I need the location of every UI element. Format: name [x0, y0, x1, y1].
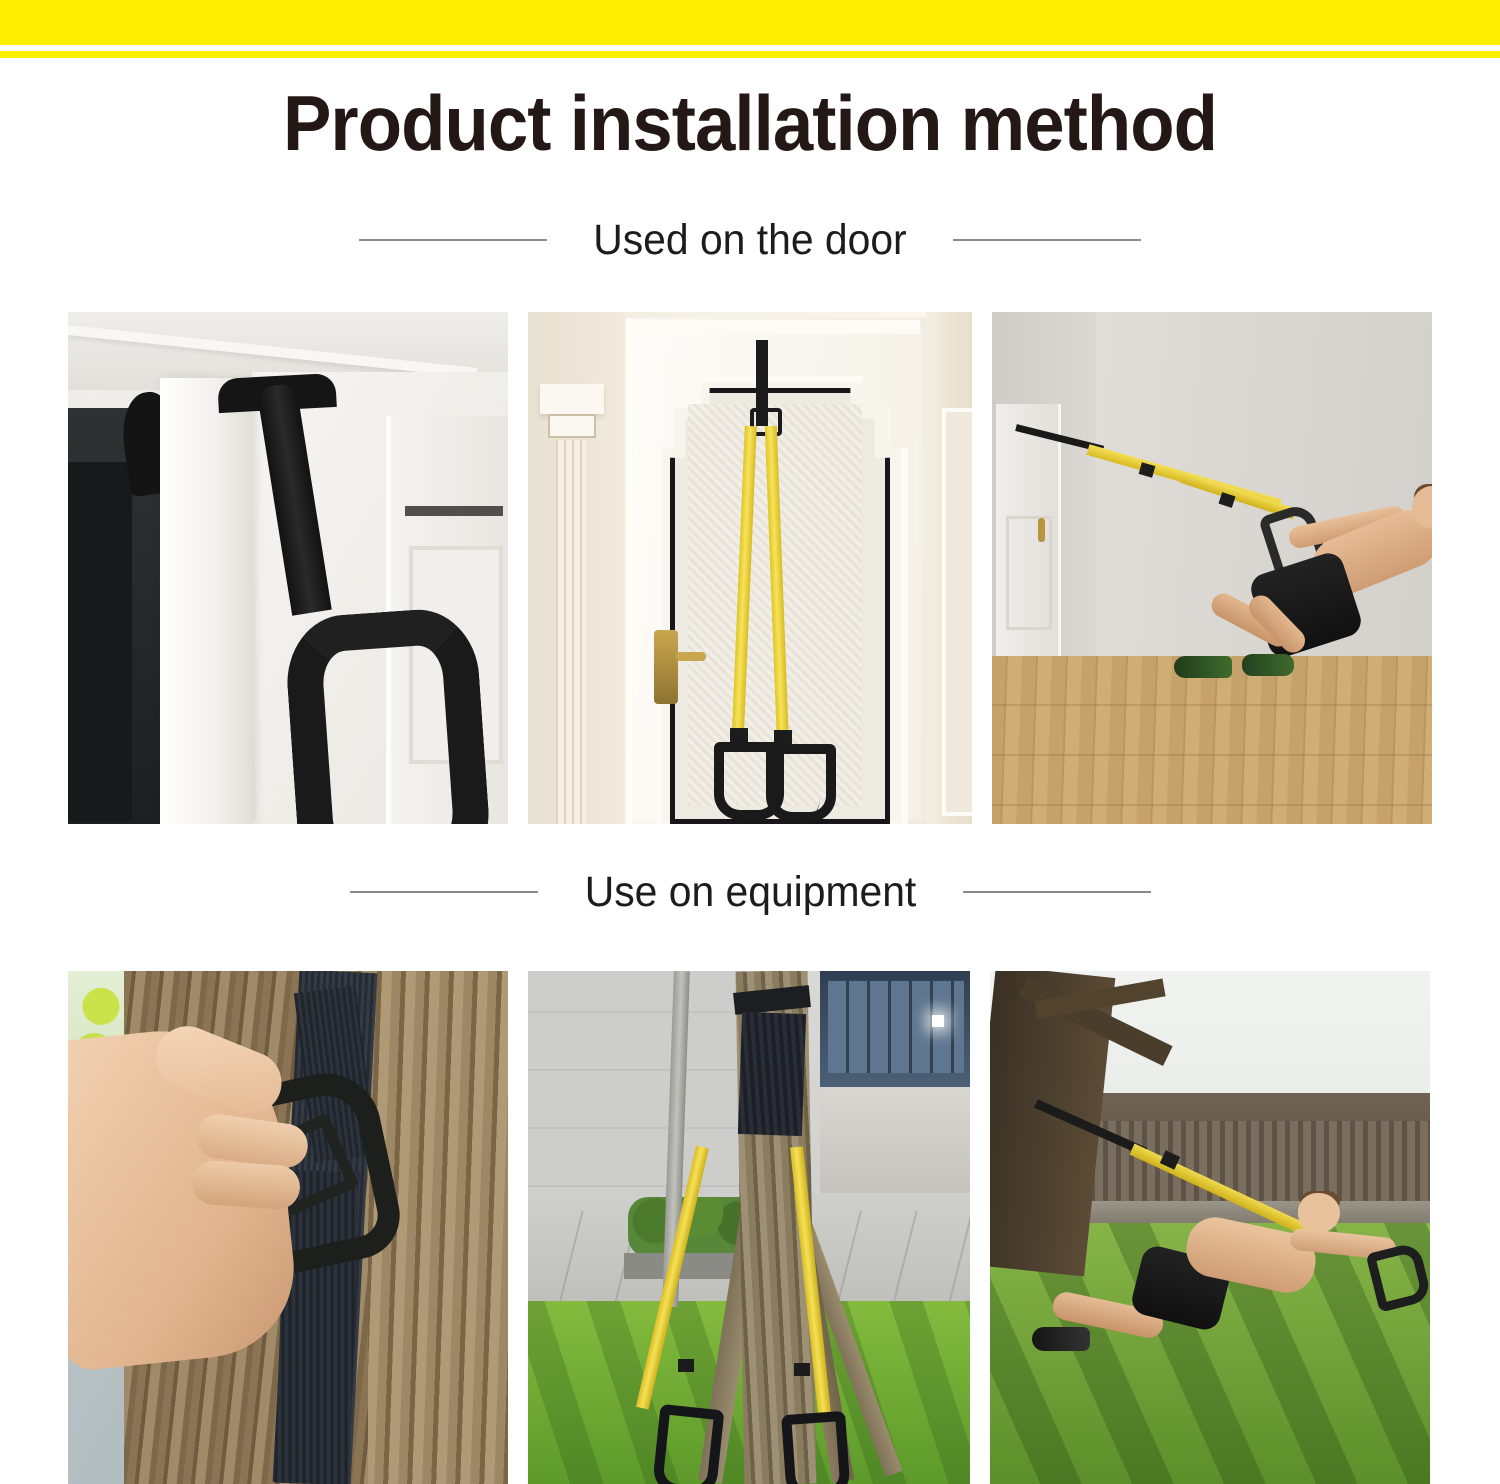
banner-bar-thin — [0, 51, 1500, 58]
straps-on-tree-courtyard-photo — [528, 971, 970, 1484]
athlete-shoe — [1032, 1327, 1090, 1351]
corbel-inset — [548, 414, 596, 438]
door-top-trim — [632, 320, 920, 334]
adjuster-right — [794, 1363, 810, 1376]
photo-row-door — [68, 312, 1432, 824]
room-door — [996, 404, 1061, 666]
right-frame-molding — [942, 408, 972, 816]
section-heading-label: Use on equipment — [584, 869, 916, 915]
section-heading-label: Used on the door — [593, 217, 906, 263]
section-heading-door: Used on the door — [0, 210, 1500, 270]
foot-cradle-strap — [724, 798, 820, 824]
page-title: Product installation method — [53, 82, 1448, 164]
building-canopy — [820, 1087, 970, 1193]
hand-finger-middle — [191, 1159, 302, 1210]
carabiner-on-tree-photo — [68, 971, 508, 1484]
corbel-molding — [540, 384, 604, 414]
handle-grip-right — [781, 1411, 851, 1484]
anchor-wrap-body — [738, 1012, 806, 1136]
divider-rule-right — [953, 239, 1141, 241]
straps-hanging-on-door-photo — [528, 312, 972, 824]
divider-rule-right — [963, 891, 1151, 893]
photo-row-equipment — [68, 971, 1430, 1484]
adjuster-left — [730, 728, 748, 742]
divider-rule-left — [350, 891, 538, 893]
athlete-shoe-front — [1174, 656, 1232, 678]
strap-loop — [283, 606, 494, 824]
athlete-shoe-back — [1242, 654, 1294, 676]
top-yellow-banner — [0, 0, 1500, 60]
divider-rule-left — [359, 239, 547, 241]
glass-building — [820, 971, 970, 1087]
indoor-row-exercise-photo — [992, 312, 1432, 824]
door-anchor-strap-photo — [68, 312, 508, 824]
dark-room-inner — [68, 462, 132, 822]
door-lever — [676, 652, 706, 661]
door-knob — [1038, 518, 1045, 542]
banner-bar-thick — [0, 0, 1500, 45]
pilaster-molding — [556, 440, 586, 824]
adjuster-left — [678, 1359, 694, 1372]
handle-grip-left — [652, 1404, 725, 1484]
floor-mat-seams — [992, 656, 1432, 824]
athlete-head — [1298, 1193, 1340, 1233]
outdoor-chest-press-photo — [990, 971, 1430, 1484]
door-frame — [160, 378, 252, 824]
door-handle-plate — [654, 630, 678, 704]
section-heading-equipment: Use on equipment — [0, 862, 1500, 922]
